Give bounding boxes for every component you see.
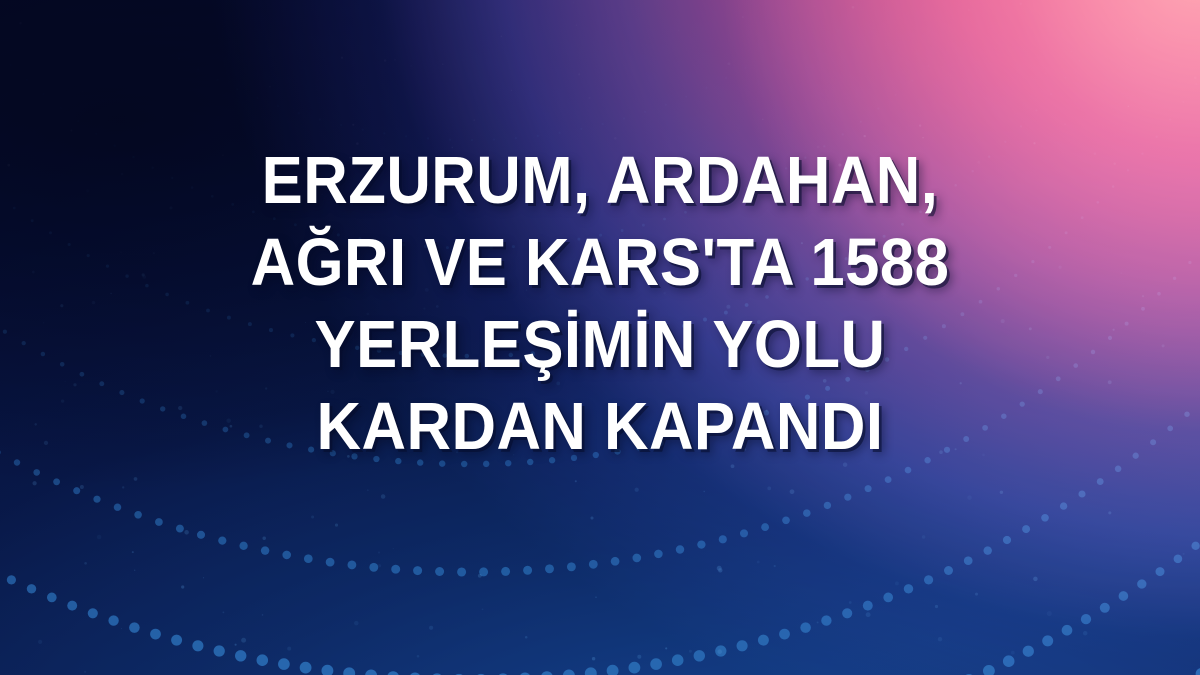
headline-line-1: ERZURUM, ARDAHAN, — [70, 140, 1130, 222]
headline-line-4: KARDAN KAPANDI — [70, 386, 1130, 468]
headline-line-3: YERLEŞİMİN YOLU — [70, 304, 1130, 386]
headline-card: ERZURUM, ARDAHAN, AĞRI VE KARS'TA 1588 Y… — [0, 0, 1200, 675]
headline-line-2: AĞRI VE KARS'TA 1588 — [70, 222, 1130, 304]
headline: ERZURUM, ARDAHAN, AĞRI VE KARS'TA 1588 Y… — [0, 140, 1200, 468]
